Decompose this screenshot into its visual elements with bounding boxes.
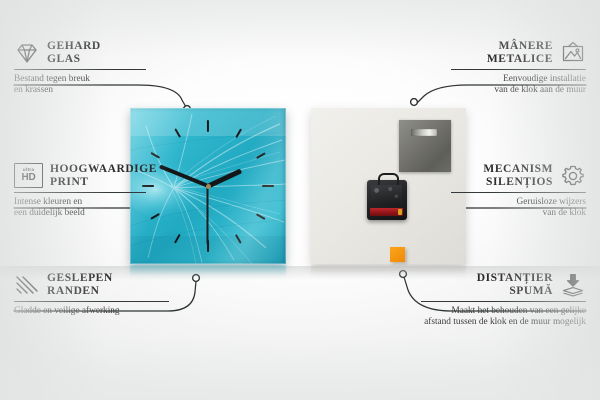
infographic-canvas: GEHARD GLAS Bestand tegen breuk en krass… [0,0,600,400]
feature-hoogwaardige-print: ultra HD HOOGWAARDIGE PRINT Intense kleu… [14,163,146,220]
picture-hanger-icon [560,41,586,65]
feature-title: DISTANȚIER SPUMĂ [477,272,553,297]
feature-desc: Bestand tegen breuk en krassen [14,74,146,97]
battery-terminal [398,209,402,215]
feature-rule [14,69,146,70]
orange-foam-spacer [390,247,405,262]
feature-rule [14,192,146,193]
ultra-hd-icon-main-label: HD [21,173,35,183]
metal-hanger-plate [399,120,451,172]
feature-rule [451,192,586,193]
feature-desc: Geruisloze wijzers van de klok [451,197,586,220]
feature-title: MÂNERE METALICE [487,40,553,65]
feature-desc: Maakt het behouden van een gelijke afsta… [421,306,586,329]
feature-title: GEHARD GLAS [47,40,101,65]
mechanism-detail [371,185,402,203]
feature-title: MECANISM SILENȚIOS [483,163,553,188]
mechanism-hanger-loop [378,173,399,185]
feature-manere-metalice: MÂNERE METALICE Eenvoudige installatie v… [451,40,586,97]
feature-geslepen-randen: GESLEPEN RANDEN Gladde en veilige afwerk… [14,272,169,317]
aa-battery [370,208,403,216]
leader-dot-manere-metalice [411,99,418,106]
feature-gehard-glas: GEHARD GLAS Bestand tegen breuk en krass… [14,40,146,97]
hanger-plate-slot [411,129,437,136]
foam-spacer-icon [560,273,586,297]
feature-desc: Eenvoudige installatie van de klok aan d… [451,74,586,97]
feature-desc: Gladde en veilige afwerking [14,306,169,317]
diamond-icon [14,41,40,65]
feature-title: GESLEPEN RANDEN [47,272,113,297]
feature-rule [451,69,586,70]
gear-icon [560,164,586,188]
feature-mecanism-silentios: MECANISM SILENȚIOS Geruisloze wijzers va… [451,163,586,220]
accessory-panel [311,108,466,264]
feature-title: HOOGWAARDIGE PRINT [50,163,157,188]
feature-rule [14,301,169,302]
feature-rule [421,301,586,302]
feature-desc: Intense kleuren en een duidelijk beeld [14,197,146,220]
ultra-hd-icon: ultra HD [14,163,43,188]
feature-distantier-spuma: DISTANȚIER SPUMĂ Maakt het behouden van … [421,272,586,329]
beveled-edges-icon [14,273,40,297]
clock-mechanism [367,180,407,220]
